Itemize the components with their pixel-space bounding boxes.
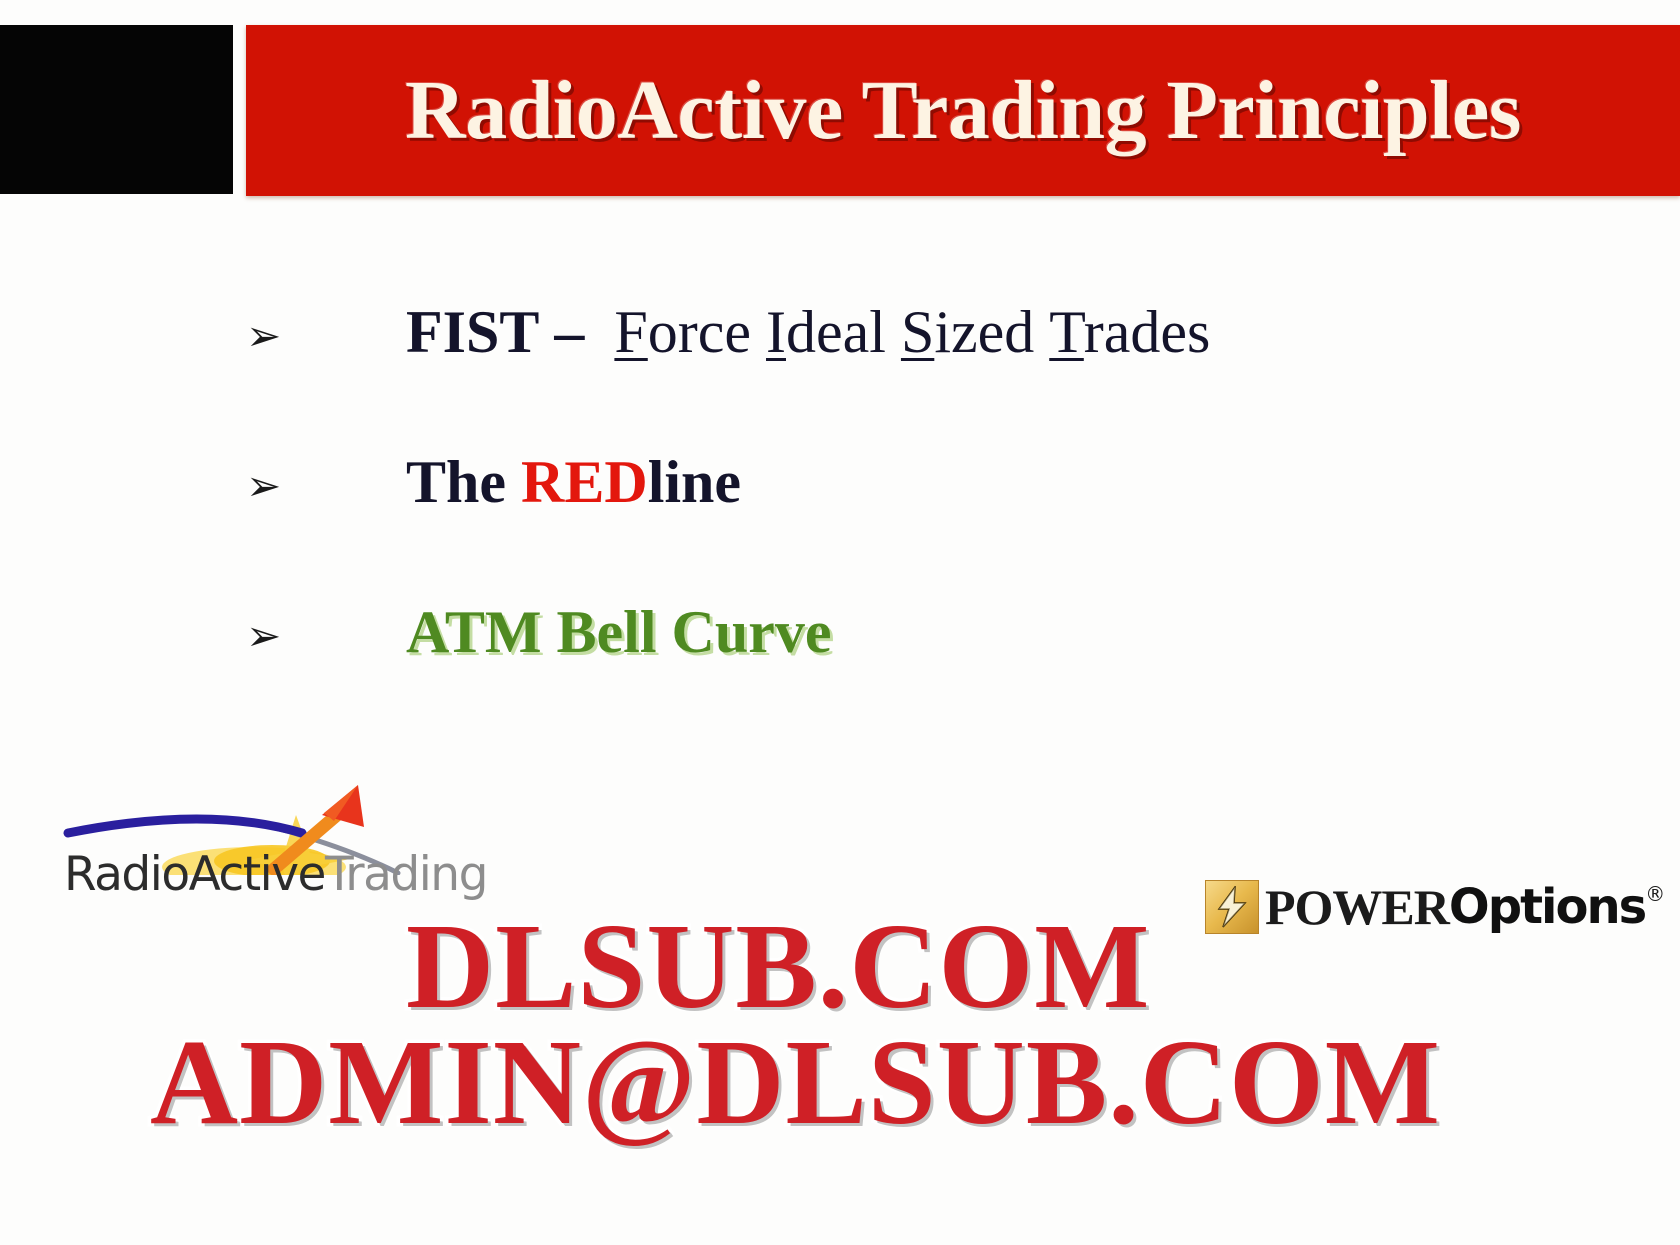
poweroptions-options-text: Options: [1449, 879, 1645, 935]
fist-initial-i: I: [766, 299, 786, 365]
fist-gap: [584, 299, 614, 365]
logo-text-radioactive: RadioActive: [64, 847, 325, 902]
fist-rest-trades: rades: [1084, 299, 1211, 365]
redline-prefix: The: [406, 449, 521, 515]
lightning-bolt-icon: [1205, 880, 1259, 934]
arrowhead-bullet-icon: ➢: [246, 315, 306, 357]
radioactive-trading-logo-text: RadioActiveTrading: [64, 847, 487, 902]
logo-text-trading: Trading: [325, 847, 487, 902]
bullet-text-redline: The REDline: [406, 448, 741, 517]
list-item: ➢ ATM Bell Curve: [0, 536, 1680, 686]
fist-rest-sized: ized: [934, 299, 1034, 365]
fist-initial-f: F: [614, 299, 647, 365]
redline-highlight: RED: [521, 449, 648, 515]
bullet-list: ➢ FIST – Force Ideal Sized Trades ➢ The …: [0, 236, 1680, 686]
list-item: ➢ FIST – Force Ideal Sized Trades: [0, 236, 1680, 386]
poweroptions-power-text: POWER: [1265, 878, 1449, 936]
arrowhead-bullet-icon: ➢: [246, 615, 306, 657]
slide-header: RadioActive Trading Principles: [0, 8, 1680, 194]
fist-word-force: Force: [614, 299, 751, 365]
fist-space-1: [751, 299, 766, 365]
bullet-text-atm-bell-curve: ATM Bell Curve: [406, 598, 831, 667]
redline-suffix: line: [648, 449, 741, 515]
fist-word-sized: Sized: [901, 299, 1034, 365]
fist-dash-spacer: [539, 299, 554, 365]
list-item: ➢ The REDline: [0, 386, 1680, 536]
radioactive-trading-logo: RadioActiveTrading: [58, 775, 478, 910]
fist-acronym: FIST: [406, 299, 539, 365]
fist-initial-s: S: [901, 299, 934, 365]
fist-initial-t: T: [1049, 299, 1084, 365]
fist-rest-ideal: deal: [786, 299, 886, 365]
header-black-block: [0, 25, 233, 194]
page-title: RadioActive Trading Principles: [246, 25, 1680, 196]
fist-word-ideal: Ideal: [766, 299, 886, 365]
watermark-admin-email: ADMIN@DLSUB.COM: [150, 1013, 1441, 1153]
fist-word-trades: Trades: [1049, 299, 1210, 365]
poweroptions-logo: POWER Options ®: [1205, 876, 1665, 938]
arrowhead-bullet-icon: ➢: [246, 465, 306, 507]
fist-space-2: [886, 299, 901, 365]
fist-rest-force: orce: [648, 299, 751, 365]
registered-trademark-icon: ®: [1645, 882, 1665, 906]
fist-space-3: [1034, 299, 1049, 365]
slide-canvas: RadioActive Trading Principles ➢ FIST – …: [0, 0, 1680, 1245]
blue-arc: [68, 819, 302, 833]
fist-dash: –: [554, 299, 584, 365]
bullet-text-fist: FIST – Force Ideal Sized Trades: [406, 298, 1210, 367]
